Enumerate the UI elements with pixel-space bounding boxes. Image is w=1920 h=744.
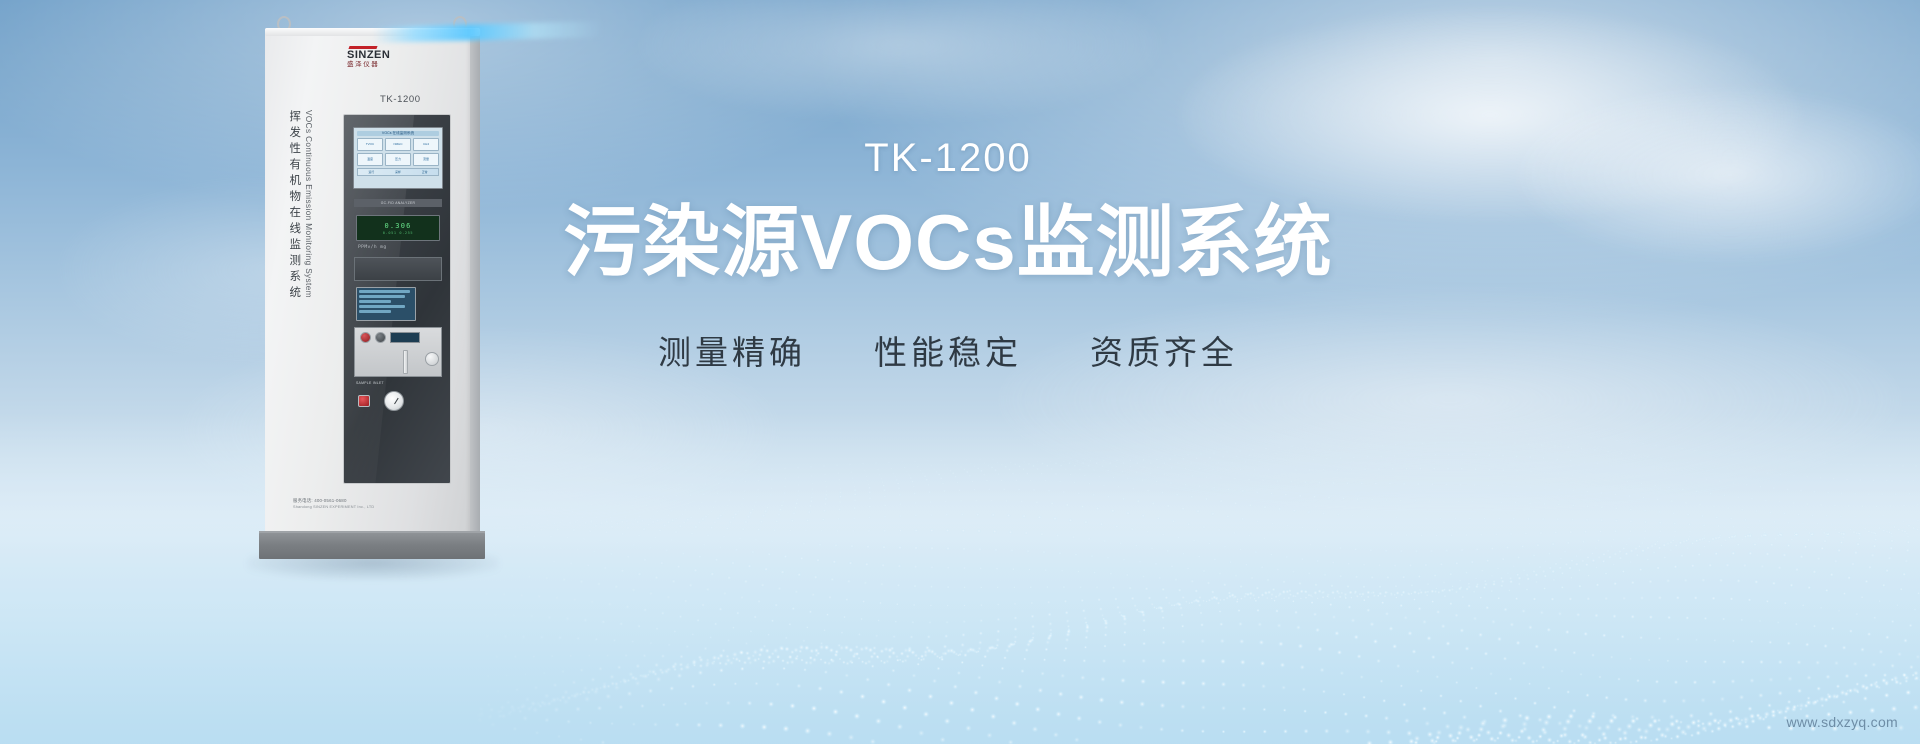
cabinet-front-panel: SINZEN 盛泽仪器 TK-1200 挥发性有机物在线监测系统 VOCs Co… — [265, 28, 470, 533]
promo-banner: SINZEN 盛泽仪器 TK-1200 挥发性有机物在线监测系统 VOCs Co… — [0, 0, 1920, 744]
company-name-line: Shandong SINZEN EXPERIMENT Inc., LTD — [293, 505, 453, 511]
product-cabinet-image: SINZEN 盛泽仪器 TK-1200 挥发性有机物在线监测系统 VOCs Co… — [265, 28, 480, 568]
cabinet-vertical-text-block: 挥发性有机物在线监测系统 VOCs Continuous Emission Mo… — [287, 110, 313, 380]
hmi-status-item: 采样 — [395, 170, 401, 174]
readout-primary-value: 0.306 — [384, 222, 411, 230]
lcd-text-line — [359, 295, 405, 298]
pneumatics-control-row — [355, 328, 441, 343]
cloud-shape — [1520, 90, 1920, 260]
service-phone-line: 服务电话: 400-0561-0680 — [293, 498, 453, 505]
power-knob-icon — [360, 332, 371, 343]
lcd-text-line — [359, 305, 405, 308]
hmi-cell: TVOC — [357, 138, 383, 151]
secondary-lcd-panel — [356, 287, 416, 321]
feature-item: 测量精确 — [658, 326, 806, 374]
filter-cap-icon — [425, 352, 439, 366]
cabinet-base-plinth — [259, 533, 485, 559]
hmi-screen-title: VOCs 在线监测系统 — [357, 131, 439, 136]
flow-tube-icon — [403, 350, 408, 374]
sample-inlet-label: SAMPLE INLET — [356, 381, 384, 385]
hmi-value-grid: TVOC NMHC CH4 温度 压力 流量 — [357, 138, 439, 166]
readout-secondary-values: 0.051 0.255 — [383, 231, 413, 235]
hmi-cell: 流量 — [413, 153, 439, 166]
feature-item: 性能稳定 — [874, 326, 1022, 374]
lcd-text-line — [359, 310, 391, 313]
hmi-cell: NMHC — [385, 138, 411, 151]
cabinet-footer-print: 服务电话: 400-0561-0680 Shandong SINZEN EXPE… — [293, 498, 453, 510]
brand-logo: SINZEN 盛泽仪器 — [347, 46, 419, 69]
readout-unit-label: PPMv/h mg — [358, 245, 387, 250]
cabinet-side-panel — [470, 33, 480, 533]
module-mini-display — [390, 332, 420, 343]
site-watermark: www.sdxzyq.com — [1786, 714, 1898, 730]
feature-list: 测量精确 性能稳定 资质齐全 — [548, 326, 1348, 374]
hmi-cell: CH4 — [413, 138, 439, 151]
hmi-touchscreen: VOCs 在线监测系统 TVOC NMHC CH4 温度 压力 流量 运行 采样… — [353, 127, 443, 189]
hmi-status-item: 正常 — [422, 170, 428, 174]
blank-filler-panel — [354, 257, 442, 281]
hmi-status-strip: 运行 采样 正常 — [357, 168, 439, 176]
model-number-heading: TK-1200 — [548, 138, 1348, 178]
banner-copy-block: TK-1200 污染源VOCs监测系统 测量精确 性能稳定 资质齐全 — [548, 138, 1348, 374]
feature-item: 资质齐全 — [1090, 326, 1238, 374]
pneumatics-module — [354, 327, 442, 377]
hmi-cell: 温度 — [357, 153, 383, 166]
hmi-status-item: 运行 — [369, 170, 375, 174]
vertical-chinese-label: 挥发性有机物在线监测系统 — [287, 110, 300, 380]
hmi-cell: 压力 — [385, 153, 411, 166]
analyzer-module-label: GC-FID ANALYZER — [354, 199, 442, 207]
lcd-text-line — [359, 300, 391, 303]
brand-chinese-name: 盛泽仪器 — [347, 62, 419, 69]
adjust-knob-icon — [375, 332, 386, 343]
emergency-stop-button-icon — [358, 395, 370, 407]
pressure-gauge-icon — [384, 391, 404, 411]
cabinet-glass-door: VOCs 在线监测系统 TVOC NMHC CH4 温度 压力 流量 运行 采样… — [343, 114, 451, 484]
page-title: 污染源VOCs监测系统 — [548, 200, 1348, 284]
brand-wordmark: SINZEN — [347, 50, 419, 61]
led-digital-readout: 0.306 0.051 0.255 — [356, 215, 440, 241]
lcd-text-line — [359, 290, 410, 293]
cabinet-model-plate: TK-1200 — [380, 94, 421, 105]
vertical-english-label: VOCs Continuous Emission Monitoring Syst… — [304, 110, 313, 380]
logo-red-bar-icon — [348, 46, 377, 49]
